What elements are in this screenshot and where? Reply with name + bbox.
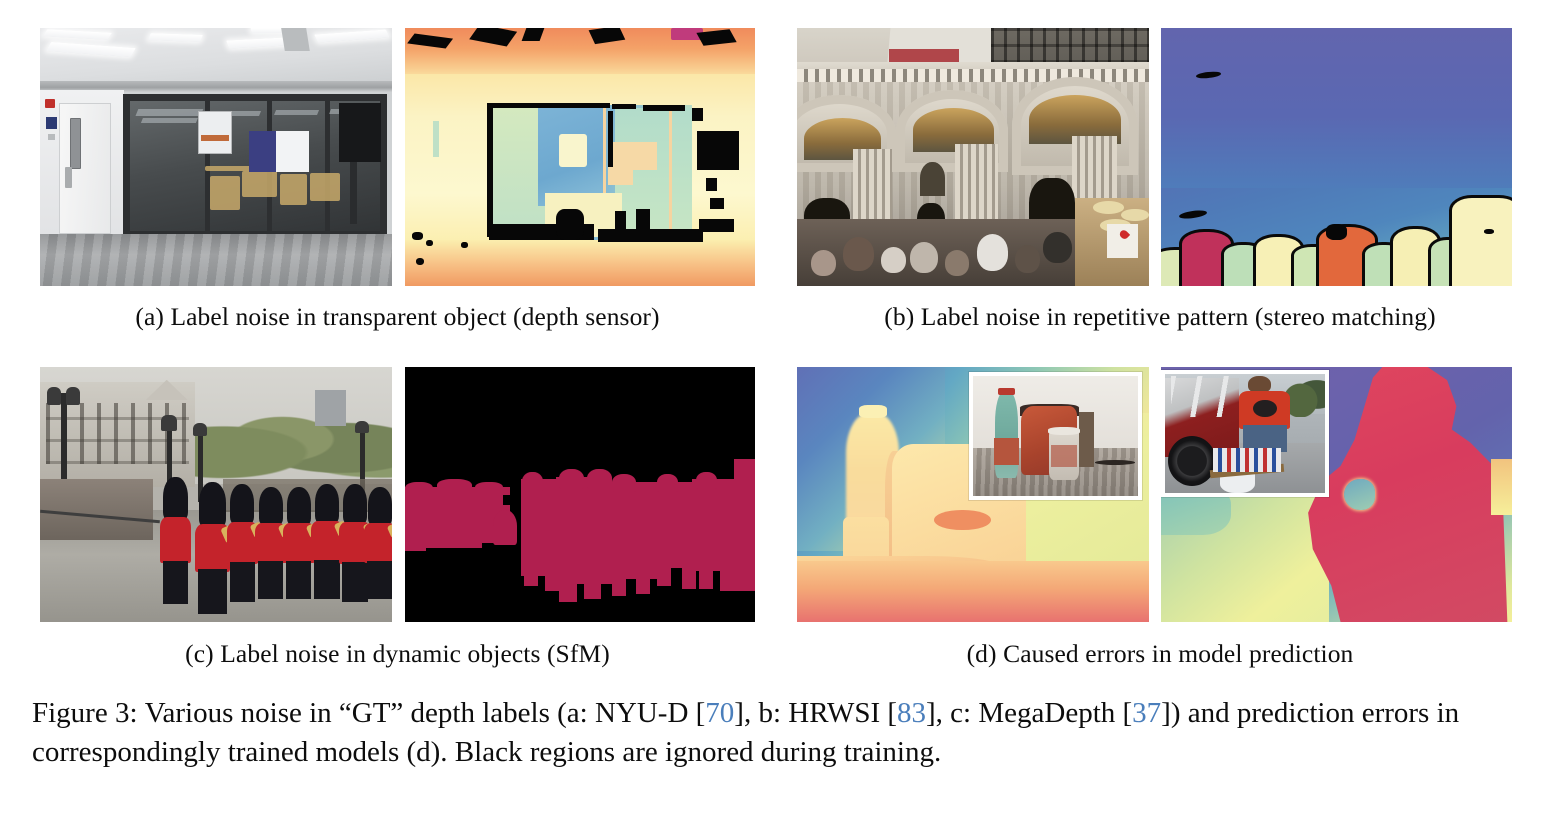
poster bbox=[249, 131, 309, 172]
poster bbox=[198, 111, 232, 154]
panel-d-prediction-left bbox=[797, 367, 1149, 622]
caption-text-4: ]) bbox=[1161, 697, 1180, 729]
inset-rgb-bottle-bag bbox=[969, 372, 1141, 500]
figure-caption: Figure 3: Various noise in “GT” depth la… bbox=[32, 694, 1524, 771]
citation-83[interactable]: 83 bbox=[897, 697, 926, 729]
caption-text-3: ], c: MegaDepth [ bbox=[926, 697, 1132, 729]
figure-3: (a) Label noise in transparent object (d… bbox=[0, 0, 1552, 826]
panel-c-rgb-image bbox=[40, 367, 392, 622]
panel-a-rgb-image bbox=[40, 28, 392, 286]
wall-sign bbox=[48, 134, 55, 141]
citation-37[interactable]: 37 bbox=[1132, 697, 1161, 729]
floor bbox=[40, 234, 392, 286]
panel-b-depth-map bbox=[1161, 28, 1512, 286]
wall-sign bbox=[46, 117, 57, 129]
subcaption-b: (b) Label noise in repetitive pattern (s… bbox=[795, 302, 1525, 332]
door-window bbox=[70, 118, 81, 169]
figure-label: Figure 3: bbox=[32, 697, 138, 729]
citation-70[interactable]: 70 bbox=[705, 697, 734, 729]
panel-b-rgb-image bbox=[797, 28, 1149, 286]
ceiling-duct bbox=[281, 28, 309, 51]
panel-c-sfm-mask bbox=[405, 367, 755, 622]
subcaption-d: (d) Caused errors in model prediction bbox=[795, 639, 1525, 669]
wall-monitor bbox=[339, 103, 381, 162]
panel-d-prediction-right bbox=[1161, 367, 1512, 622]
monitor-stand bbox=[350, 162, 357, 224]
subcaption-a: (a) Label noise in transparent object (d… bbox=[40, 302, 755, 332]
fire-alarm bbox=[45, 99, 55, 108]
inset-rgb-vendor-cart bbox=[1161, 370, 1329, 498]
caption-text-2: ], b: HRWSI [ bbox=[734, 697, 897, 729]
door-handle bbox=[65, 167, 71, 188]
panel-a-depth-map bbox=[405, 28, 755, 286]
caption-text-1: Various noise in “GT” depth labels (a: N… bbox=[145, 697, 706, 729]
subcaption-c: (c) Label noise in dynamic objects (SfM) bbox=[40, 639, 755, 669]
